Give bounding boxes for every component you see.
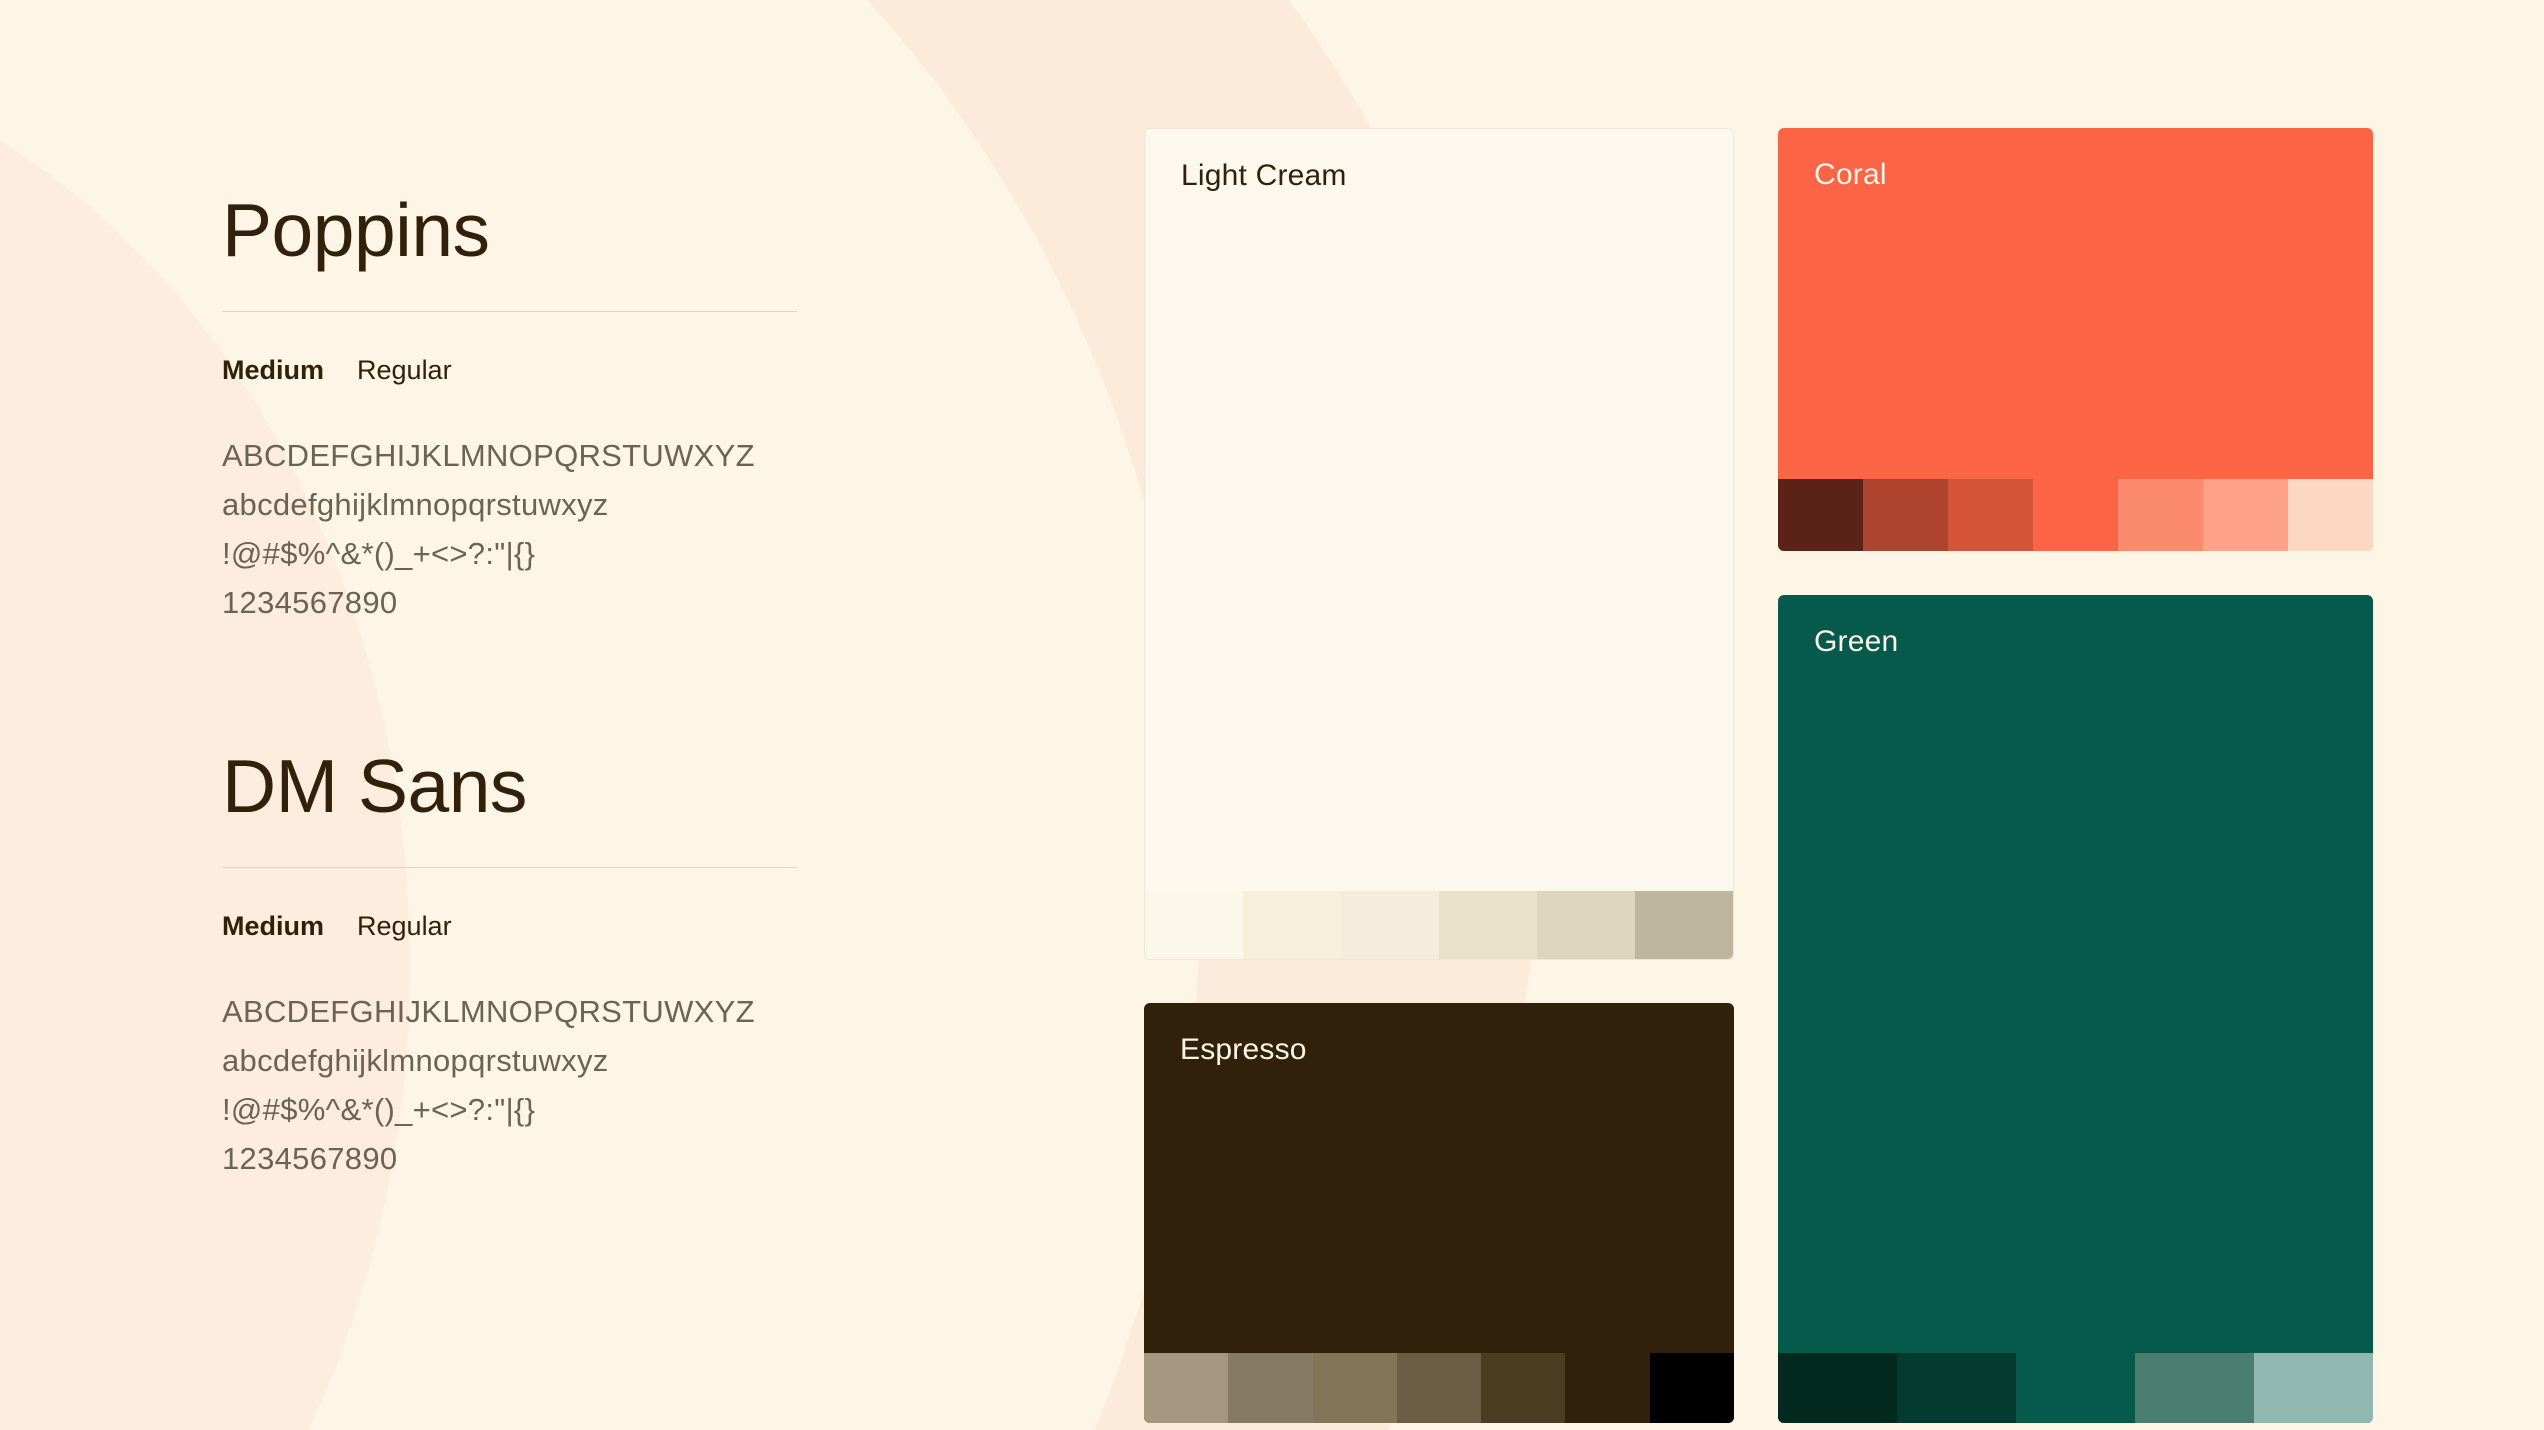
tint-swatch[interactable] xyxy=(1481,1353,1565,1423)
tint-swatch[interactable] xyxy=(1397,1353,1481,1423)
tint-swatch[interactable] xyxy=(2118,479,2203,551)
tint-swatch[interactable] xyxy=(2135,1353,2254,1423)
font-weight-medium: Medium xyxy=(222,355,324,386)
color-card-coral[interactable]: Coral xyxy=(1778,128,2373,551)
font-specimen: ABCDEFGHIJKLMNOPQRSTUWXYZ abcdefghijklmn… xyxy=(222,432,802,628)
tint-swatch[interactable] xyxy=(1144,1353,1228,1423)
tint-strip-green xyxy=(1778,1353,2373,1423)
color-card-body: Espresso xyxy=(1144,1003,1734,1353)
tint-swatch[interactable] xyxy=(1778,479,1863,551)
tint-swatch[interactable] xyxy=(2016,1353,2135,1423)
tint-swatch[interactable] xyxy=(1313,1353,1397,1423)
specimen-symbols: !@#$%^&*()_+<>?:"|{} xyxy=(222,1086,802,1135)
tint-strip-coral xyxy=(1778,479,2373,551)
tint-swatch[interactable] xyxy=(1243,891,1341,959)
font-weight-regular: Regular xyxy=(357,911,452,942)
tint-swatch[interactable] xyxy=(1228,1353,1312,1423)
tint-swatch[interactable] xyxy=(2288,479,2373,551)
style-guide-page: Poppins Medium Regular ABCDEFGHIJKLMNOPQ… xyxy=(0,0,2544,1430)
tint-swatch[interactable] xyxy=(2203,479,2288,551)
tint-swatch[interactable] xyxy=(1635,891,1733,959)
tint-swatch[interactable] xyxy=(1778,1353,1897,1423)
font-weight-regular: Regular xyxy=(357,355,452,386)
color-card-espresso[interactable]: Espresso xyxy=(1144,1003,1734,1423)
color-card-label: Espresso xyxy=(1180,1033,1307,1067)
tint-swatch[interactable] xyxy=(1439,891,1537,959)
specimen-numerals: 1234567890 xyxy=(222,1135,802,1184)
tint-swatch[interactable] xyxy=(2254,1353,2373,1423)
specimen-uppercase: ABCDEFGHIJKLMNOPQRSTUWXYZ xyxy=(222,432,802,481)
tint-swatch[interactable] xyxy=(1565,1353,1649,1423)
specimen-uppercase: ABCDEFGHIJKLMNOPQRSTUWXYZ xyxy=(222,988,802,1037)
color-card-green[interactable]: Green xyxy=(1778,595,2373,1423)
font-name: Poppins xyxy=(222,190,802,271)
tint-strip-light-cream xyxy=(1145,891,1733,959)
font-name: DM Sans xyxy=(222,746,802,827)
font-block-poppins: Poppins Medium Regular ABCDEFGHIJKLMNOPQ… xyxy=(222,190,802,628)
color-card-body: Coral xyxy=(1778,128,2373,479)
tint-swatch[interactable] xyxy=(1145,891,1243,959)
typography-section: Poppins Medium Regular ABCDEFGHIJKLMNOPQ… xyxy=(222,190,802,1302)
specimen-lowercase: abcdefghijklmnopqrstuwxyz xyxy=(222,481,802,530)
specimen-lowercase: abcdefghijklmnopqrstuwxyz xyxy=(222,1037,802,1086)
color-card-label: Light Cream xyxy=(1181,159,1347,193)
font-weight-list: Medium Regular xyxy=(222,911,802,942)
color-card-body: Green xyxy=(1778,595,2373,1353)
font-specimen: ABCDEFGHIJKLMNOPQRSTUWXYZ abcdefghijklmn… xyxy=(222,988,802,1184)
font-weight-list: Medium Regular xyxy=(222,355,802,386)
specimen-symbols: !@#$%^&*()_+<>?:"|{} xyxy=(222,530,802,579)
color-card-light-cream[interactable]: Light Cream xyxy=(1144,128,1734,960)
divider xyxy=(222,867,797,868)
color-card-body: Light Cream xyxy=(1145,129,1733,891)
specimen-numerals: 1234567890 xyxy=(222,579,802,628)
tint-swatch[interactable] xyxy=(2033,479,2118,551)
color-card-label: Green xyxy=(1814,625,1898,659)
tint-swatch[interactable] xyxy=(1863,479,1948,551)
tint-strip-espresso xyxy=(1144,1353,1734,1423)
divider xyxy=(222,311,797,312)
tint-swatch[interactable] xyxy=(1537,891,1635,959)
tint-swatch[interactable] xyxy=(1650,1353,1734,1423)
tint-swatch[interactable] xyxy=(1897,1353,2016,1423)
font-weight-medium: Medium xyxy=(222,911,324,942)
color-card-label: Coral xyxy=(1814,158,1887,192)
tint-swatch[interactable] xyxy=(1341,891,1439,959)
font-block-dm-sans: DM Sans Medium Regular ABCDEFGHIJKLMNOPQ… xyxy=(222,746,802,1184)
tint-swatch[interactable] xyxy=(1948,479,2033,551)
